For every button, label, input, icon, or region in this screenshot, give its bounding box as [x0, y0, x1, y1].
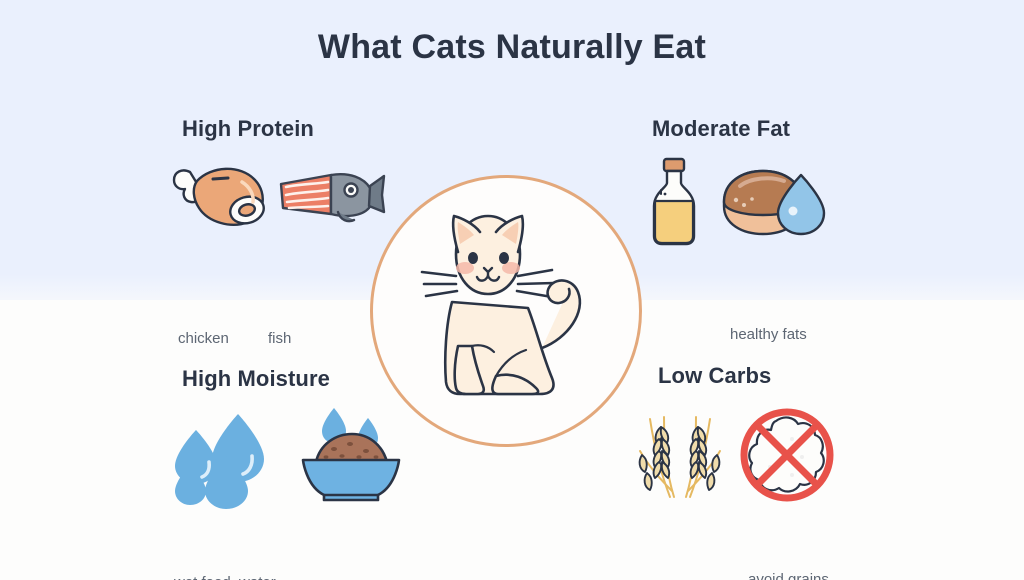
- seed-and-droplet-icon: [718, 166, 834, 238]
- icon-label-chicken: chicken: [178, 330, 229, 347]
- quadrant-moderate-fat: Moderate Fat: [652, 116, 790, 346]
- wheat-stalks-icon: [634, 411, 726, 503]
- chicken-drumstick-icon: [168, 160, 274, 230]
- quadrant-heading-high-protein: High Protein: [182, 116, 314, 142]
- icon-label-healthy-fats: healthy fats: [730, 326, 807, 343]
- icon-label-avoid-grains: avoid grains: [748, 571, 829, 580]
- wet-food-bowl-icon: [294, 406, 406, 504]
- sitting-cat-illustration: [400, 206, 612, 416]
- page-title: What Cats Naturally Eat: [0, 28, 1024, 67]
- quadrant-heading-moderate-fat: Moderate Fat: [652, 116, 790, 142]
- water-droplets-icon: [174, 412, 278, 498]
- quadrant-heading-high-moisture: High Moisture: [182, 366, 330, 392]
- quadrant-high-protein: High Protein: [182, 116, 314, 350]
- oil-bottle-icon: [646, 156, 702, 248]
- infographic-canvas: What Cats Naturally Eat High Protein: [0, 0, 1024, 580]
- center-cat-circle: [370, 175, 642, 447]
- icon-label-fish: fish: [268, 330, 291, 347]
- quadrant-low-carbs: Low Carbs: [658, 363, 771, 580]
- quadrant-high-moisture: High Moisture: [182, 366, 330, 580]
- icon-label-wet-food-water: wet food, water: [174, 574, 276, 580]
- salmon-fish-icon: [278, 168, 388, 226]
- no-grains-prohibition-icon: [736, 409, 840, 507]
- quadrant-heading-low-carbs: Low Carbs: [658, 363, 771, 389]
